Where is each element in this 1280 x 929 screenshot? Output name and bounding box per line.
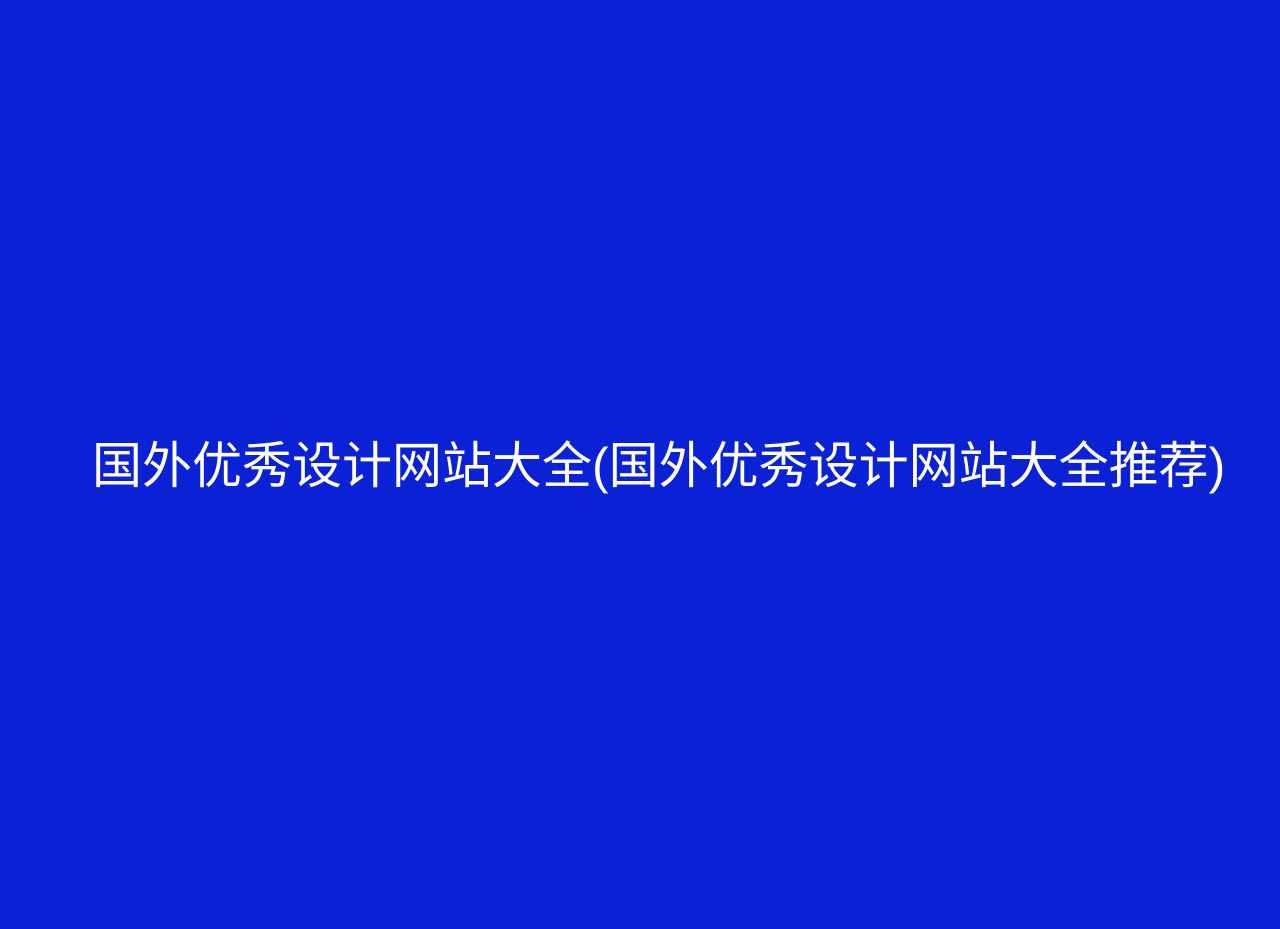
page-title: 国外优秀设计网站大全(国外优秀设计网站大全推荐) (0, 441, 1280, 491)
slide-canvas: 国外优秀设计网站大全(国外优秀设计网站大全推荐) (0, 0, 1280, 929)
